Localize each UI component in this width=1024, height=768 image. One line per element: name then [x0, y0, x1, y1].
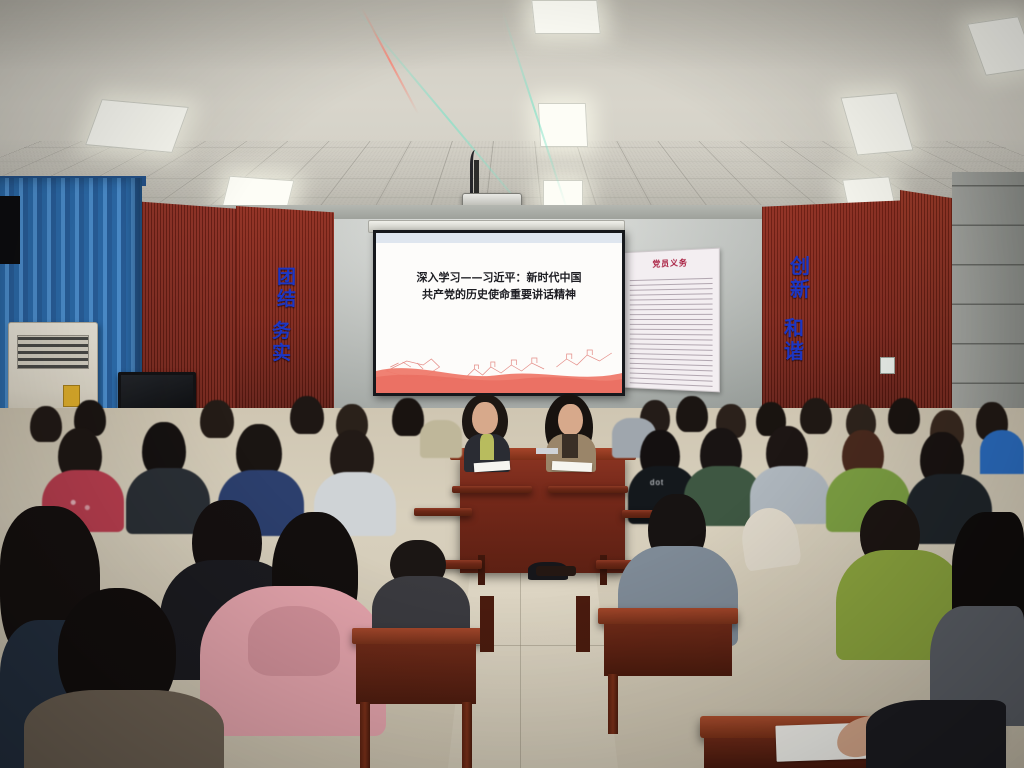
- red-wall-panel-right: [762, 200, 910, 424]
- presenter-face: [472, 402, 498, 434]
- classroom-photo: 团结 务实 创新 和谐 党员义务 深入学习——习近平：新时代中国 共产党的历史使…: [0, 0, 1024, 768]
- student-desk-top: [352, 628, 482, 644]
- student-desk-front: [604, 624, 732, 676]
- poster-body-text: [630, 274, 713, 387]
- ceiling-light-panel: [531, 0, 601, 34]
- audience-head: [888, 398, 920, 434]
- poster-title: 党员义务: [624, 256, 719, 271]
- presenter-face: [558, 404, 583, 435]
- chair-back: [576, 596, 590, 652]
- slide-great-wall-graphic: [376, 341, 622, 393]
- projector-mount: [474, 160, 479, 196]
- student-desk: [414, 508, 472, 516]
- hoodie-hood: [248, 606, 340, 676]
- ac-label: [63, 385, 80, 407]
- student-desk: [452, 486, 532, 493]
- presenter-collar: [562, 434, 578, 458]
- wall-poster: 党员义务: [623, 248, 720, 393]
- desk-leg: [608, 674, 618, 734]
- student-desk-top: [598, 608, 738, 624]
- audience-head: [142, 422, 186, 474]
- audience-head: [236, 424, 282, 476]
- audience-cap: [980, 430, 1024, 474]
- chair-back: [480, 596, 494, 652]
- ceiling-light-panel: [85, 99, 189, 153]
- projection-screen-frame: 深入学习——习近平：新时代中国 共产党的历史使命重要讲话精神: [373, 230, 625, 396]
- audience-arm: [866, 700, 1006, 768]
- audience-head: [290, 396, 324, 434]
- ac-vent-grille: [17, 335, 89, 369]
- student-desk: [548, 486, 628, 493]
- side-wall-tile-lines: [952, 172, 1024, 422]
- audience-body: [420, 420, 462, 458]
- desk-leg: [360, 702, 370, 768]
- side-wall-right: [952, 172, 1024, 422]
- audience-head: [800, 398, 832, 434]
- wall-panel-dark: [0, 196, 20, 264]
- shirt-text: dot: [650, 478, 676, 487]
- audience-head: [30, 406, 62, 442]
- red-wall-panel-left: [236, 206, 334, 420]
- audience-head: [676, 396, 708, 432]
- light-switch[interactable]: [880, 357, 895, 374]
- wall-char-left-1: 团结: [277, 268, 296, 312]
- presenter-collar: [480, 434, 494, 460]
- bag-on-floor: [536, 566, 576, 576]
- audience-head: [200, 400, 234, 438]
- student-desk-front: [356, 644, 476, 704]
- slide-title: 深入学习——习近平：新时代中国 共产党的历史使命重要讲话精神: [386, 269, 612, 303]
- desk-leg: [462, 702, 472, 768]
- audience-head: [392, 398, 424, 436]
- projection-screen: 深入学习——习近平：新时代中国 共产党的历史使命重要讲话精神: [376, 233, 622, 393]
- microphone-base: [536, 448, 558, 454]
- wall-char-right-1: 创新: [790, 256, 810, 302]
- wall-char-right-2: 和谐: [784, 318, 804, 364]
- wall-char-left-2: 务实: [272, 322, 291, 366]
- red-wall-panel-right-outer: [900, 190, 960, 425]
- audience-body: [24, 690, 224, 768]
